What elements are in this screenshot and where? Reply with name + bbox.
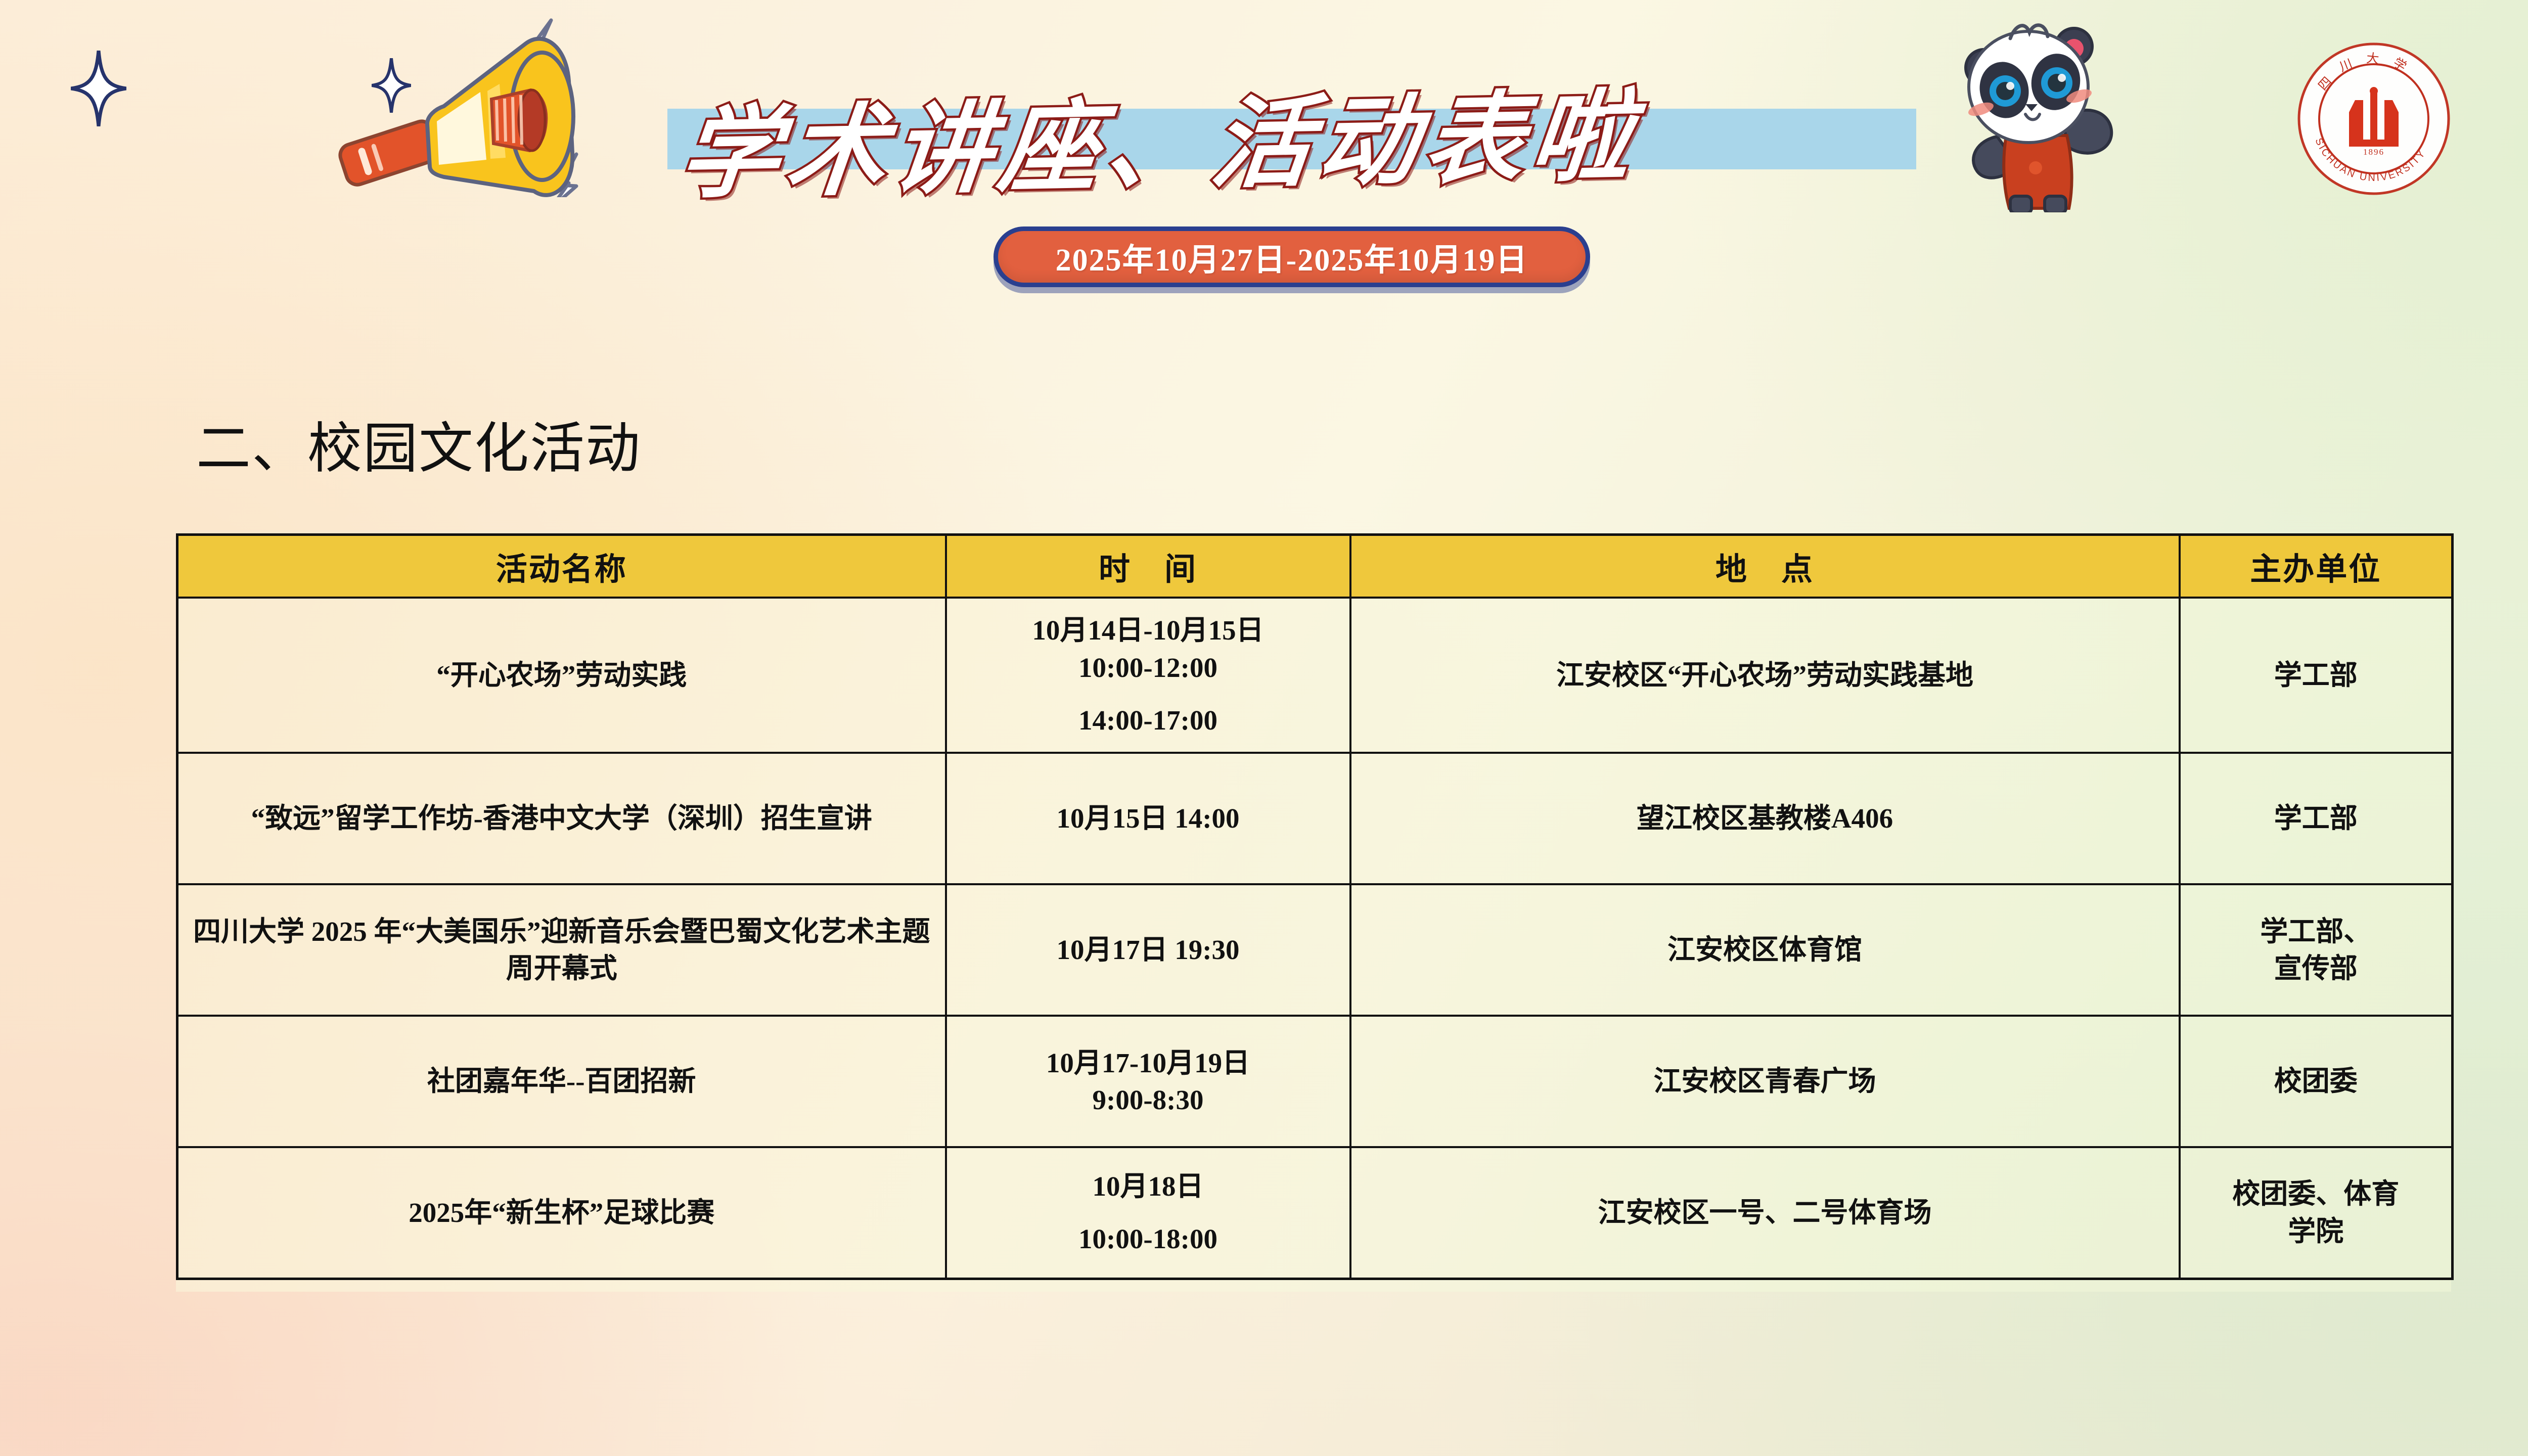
svg-text:1896: 1896 xyxy=(2363,147,2384,157)
cell-time: 10月18日10:00-18:00 xyxy=(946,1147,1350,1279)
table-row: 2025年“新生杯”足球比赛10月18日10:00-18:00江安校区一号、二号… xyxy=(177,1147,2453,1279)
table-row: “开心农场”劳动实践10月14日-10月15日10:00-12:0014:00-… xyxy=(177,598,2453,753)
cell-time: 10月14日-10月15日10:00-12:0014:00-17:00 xyxy=(946,598,1350,753)
column-header-time: 时 间 xyxy=(946,535,1350,598)
table-header-row: 活动名称 时 间 地 点 主办单位 xyxy=(177,535,2453,598)
cell-activity-name: 四川大学 2025 年“大美国乐”迎新音乐会暨巴蜀文化艺术主题周开幕式 xyxy=(177,884,946,1016)
date-range-text: 2025年10月27日-2025年10月19日 xyxy=(1056,234,1528,280)
megaphone-illustration xyxy=(313,15,607,197)
page-title: 学术讲座、活动表啦 xyxy=(654,54,1934,214)
table-row: “致远”留学工作坊-香港中文大学（深圳）招生宣讲10月15日 14:00望江校区… xyxy=(177,753,2453,884)
cell-time: 10月15日 14:00 xyxy=(946,753,1350,884)
cell-organizer: 校团委、体育学院 xyxy=(2180,1147,2453,1279)
cell-place: 江安校区“开心农场”劳动实践基地 xyxy=(1350,598,2180,753)
cell-time: 10月17日 19:30 xyxy=(946,884,1350,1016)
cell-place: 江安校区体育馆 xyxy=(1350,884,2180,1016)
banner-title-block: 学术讲座、活动表啦 xyxy=(662,66,1926,202)
cell-place: 江安校区一号、二号体育场 xyxy=(1350,1147,2180,1279)
column-header-organizer: 主办单位 xyxy=(2180,535,2453,598)
column-header-place: 地 点 xyxy=(1350,535,2180,598)
sichuan-university-logo: 1896 四川大学 SICHUAN UNIVERSITY xyxy=(2295,40,2452,197)
table-row: 社团嘉年华--百团招新10月17-10月19日9:00-8:30江安校区青春广场… xyxy=(177,1016,2453,1147)
column-header-activity-name: 活动名称 xyxy=(177,535,946,598)
activity-schedule-table: 活动名称 时 间 地 点 主办单位 “开心农场”劳动实践10月14日-10月15… xyxy=(176,533,2454,1280)
cell-organizer: 学工部 xyxy=(2180,753,2453,884)
cell-organizer: 学工部、宣传部 xyxy=(2180,884,2453,1016)
sparkle-icon xyxy=(71,51,126,126)
cell-place: 望江校区基教楼A406 xyxy=(1350,753,2180,884)
cell-activity-name: “致远”留学工作坊-香港中文大学（深圳）招生宣讲 xyxy=(177,753,946,884)
cell-activity-name: 2025年“新生杯”足球比赛 xyxy=(177,1147,946,1279)
panda-mascot xyxy=(1921,10,2134,212)
cell-organizer: 校团委 xyxy=(2180,1016,2453,1147)
cell-place: 江安校区青春广场 xyxy=(1350,1016,2180,1147)
page-section-heading: 二、校园文化活动 xyxy=(196,404,641,483)
cell-time: 10月17-10月19日9:00-8:30 xyxy=(946,1016,1350,1147)
cell-organizer: 学工部 xyxy=(2180,598,2453,753)
cell-activity-name: “开心农场”劳动实践 xyxy=(177,598,946,753)
date-range-badge: 2025年10月27日-2025年10月19日 xyxy=(994,226,1590,287)
table-row: 四川大学 2025 年“大美国乐”迎新音乐会暨巴蜀文化艺术主题周开幕式10月17… xyxy=(177,884,2453,1016)
page-header: 学术讲座、活动表啦 2025年10月27日-2025年10月19日 xyxy=(0,0,2528,324)
cell-activity-name: 社团嘉年华--百团招新 xyxy=(177,1016,946,1147)
